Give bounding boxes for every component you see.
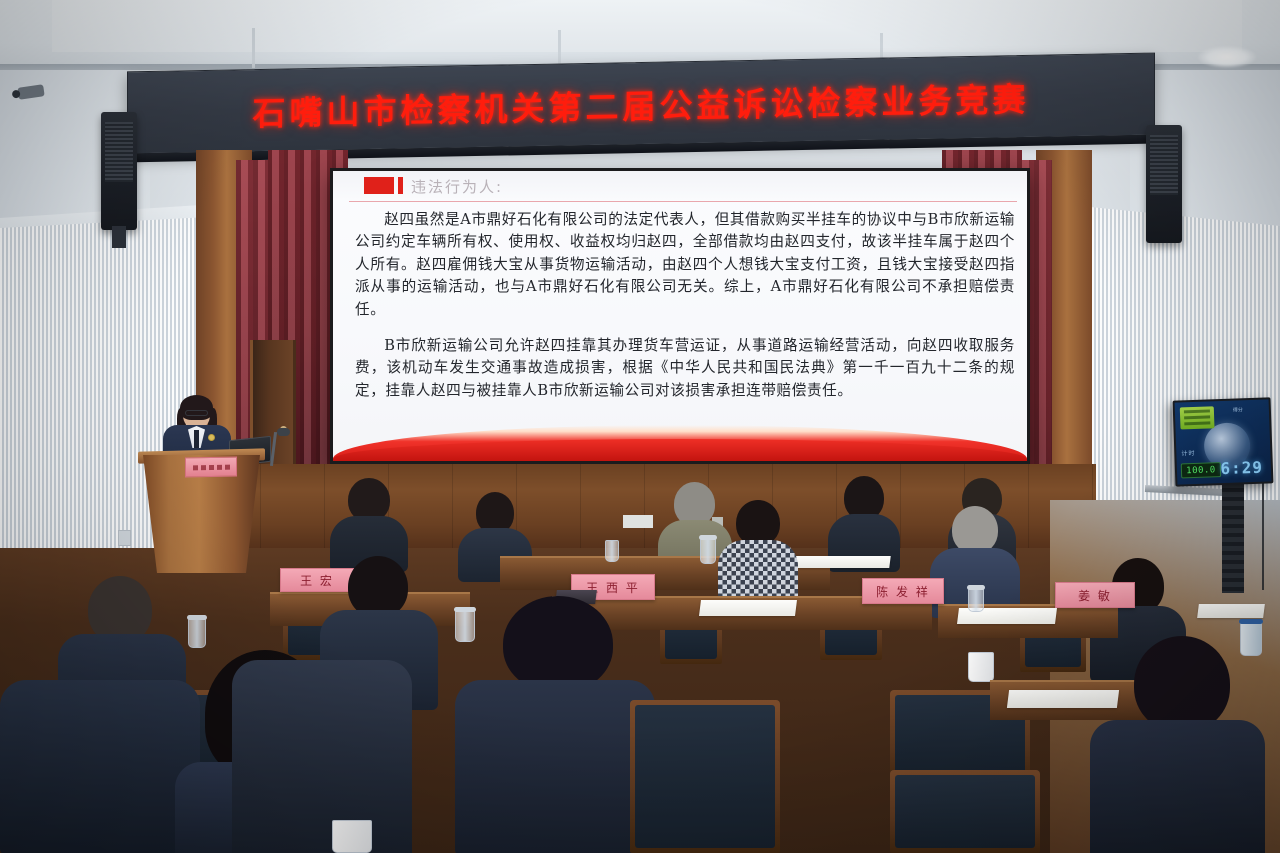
slide-paragraph-2: B市欣新运输公司允许赵四挂靠其办理货车营运证，从事道路运输经营活动，向赵四收取服… (355, 335, 1015, 402)
slide-body: 赵四虽然是A市鼎好石化有限公司的法定代表人，但其借款购买半挂车的协议中与B市欣新… (355, 209, 1015, 416)
presenter-hair (180, 395, 213, 420)
podium-name-card (185, 457, 237, 478)
person-head (1134, 636, 1230, 732)
audience-chair[interactable] (890, 770, 1040, 853)
chair-pad (895, 775, 1035, 848)
water-cup (700, 538, 716, 564)
audience-member (718, 500, 798, 600)
slide-bullet-square-icon (364, 177, 394, 194)
speaker-grille-icon (105, 122, 133, 182)
document-paper (1197, 604, 1265, 618)
audience-member-foreground (455, 596, 655, 853)
procuratorate-emblem-icon (208, 434, 215, 441)
led-banner: 石嘴山市检察机关第二届公益诉讼检察业务竞赛 (127, 53, 1155, 155)
monitor-top-label: 得分 (1233, 406, 1243, 413)
document-paper (699, 600, 797, 616)
audience-member-foreground (1090, 636, 1265, 853)
bottle-cap (187, 615, 207, 620)
banner-hanger-rod-left (252, 28, 255, 68)
monitor-cable (1262, 470, 1264, 590)
stage-wall-plate (623, 515, 653, 528)
name-placard: 陈 发 祥 (862, 578, 944, 604)
cup-lid (699, 535, 717, 540)
microphone-icon (277, 428, 290, 436)
person-torso (232, 660, 412, 853)
water-cup (605, 540, 619, 562)
conference-hall-photo: 石嘴山市检察机关第二届公益诉讼检察业务竞赛 违法行为人: 赵四虽然是A市鼎好石化… (0, 0, 1280, 853)
document-paper (789, 556, 890, 568)
timer-monitor-screen: 得分 计时 100.0 6:29 (1175, 399, 1272, 484)
ceiling-speaker-left (101, 112, 137, 230)
ceiling-recess (52, 0, 1242, 52)
slide-heading: 违法行为人: (411, 176, 503, 197)
timer-monitor[interactable]: 得分 计时 100.0 6:29 (1173, 397, 1274, 486)
name-placard: 姜 敏 (1055, 582, 1135, 608)
cup-lid (967, 585, 985, 590)
glasses-icon (185, 410, 208, 416)
slide-paragraph-1: 赵四虽然是A市鼎好石化有限公司的法定代表人，但其借款购买半挂车的协议中与B市欣新… (355, 209, 1015, 321)
slide-bullet-bar-icon (398, 177, 403, 194)
person-head (952, 506, 998, 554)
monitor-side-label: 计时 (1181, 448, 1195, 457)
ceiling-light (1198, 46, 1256, 68)
person-torso-patterned (718, 540, 798, 602)
paper-cup (968, 652, 994, 682)
audience-chair[interactable] (630, 700, 780, 853)
speaker-mount-left (112, 226, 126, 248)
paper-cup (332, 820, 372, 853)
ceiling-speaker-right (1146, 125, 1182, 243)
audience-member-foreground (232, 600, 412, 853)
monitor-pole (1222, 483, 1244, 593)
projection-screen: 违法行为人: 赵四虽然是A市鼎好石化有限公司的法定代表人，但其借款购买半挂车的协… (330, 168, 1030, 464)
person-head (503, 596, 613, 692)
presenter-tie (194, 430, 199, 448)
person-torso (455, 680, 655, 853)
speaker-grille-icon (1150, 135, 1178, 195)
water-cup (968, 588, 984, 612)
monitor-green-panel (1180, 406, 1215, 429)
bottle-cap (1239, 619, 1263, 624)
presentation-slide: 违法行为人: 赵四虽然是A市鼎好石化有限公司的法定代表人，但其借款购买半挂车的协… (333, 171, 1027, 461)
monitor-clock-display: 6:29 (1220, 458, 1263, 478)
wall-socket-left (118, 530, 131, 546)
slide-header-rule (349, 201, 1017, 202)
monitor-score-display: 100.0 (1181, 462, 1221, 478)
person-torso (1090, 720, 1265, 853)
led-banner-text: 石嘴山市检察机关第二届公益诉讼检察业务竞赛 (128, 54, 1154, 154)
chair-pad (635, 705, 775, 848)
